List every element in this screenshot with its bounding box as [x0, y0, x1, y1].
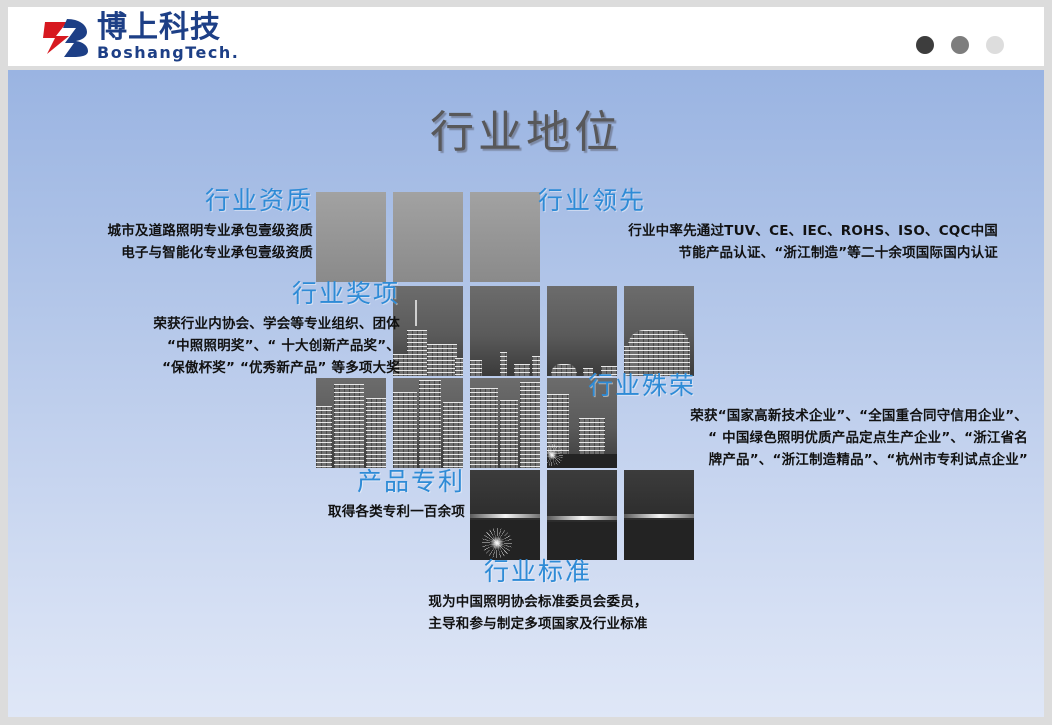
mosaic-tile: [624, 470, 694, 560]
mosaic-tile: [316, 378, 386, 468]
block-patents-body: 取得各类专利一百余项: [168, 501, 465, 523]
block-patents-heading: 产品专利: [168, 468, 465, 497]
block-awards-body: 荣获行业内协会、学会等专业组织、团体 “中照照明奖”、“ 十大创新产品奖”、 “…: [8, 313, 400, 380]
text-line: 主导和参与制定多项国家及行业标准: [338, 613, 738, 635]
presentation-slide: 博上科技 BoshangTech. 行业地位: [0, 0, 1052, 725]
mosaic-tile: [470, 378, 540, 468]
header-dots: [916, 36, 1004, 54]
boshang-logo-mark: [43, 16, 89, 58]
dot-light: [986, 36, 1004, 54]
text-line: 荣获“国家高新技术企业”、“全国重合同守信用企业”、: [588, 405, 1028, 427]
text-line: 牌产品”、“浙江制造精品”、“杭州市专利试点企业”: [588, 449, 1028, 471]
mosaic-tile: [470, 470, 540, 560]
mosaic-tile: [393, 192, 463, 282]
dot-medium: [951, 36, 969, 54]
block-qualification: 行业资质 城市及道路照明专业承包壹级资质 电子与智能化专业承包壹级资质: [28, 187, 313, 264]
text-line: “保傲杯奖” “优秀新产品” 等多项大奖: [8, 357, 400, 379]
block-honors-body: 荣获“国家高新技术企业”、“全国重合同守信用企业”、 “ 中国绿色照明优质产品定…: [588, 405, 1028, 472]
page-title: 行业地位: [8, 96, 1044, 160]
company-logo: 博上科技 BoshangTech.: [43, 14, 239, 60]
mosaic-tile: [547, 470, 617, 560]
block-awards-heading: 行业奖项: [8, 280, 400, 309]
block-awards: 行业奖项 荣获行业内协会、学会等专业组织、团体 “中照照明奖”、“ 十大创新产品…: [8, 280, 400, 380]
slide-header: 博上科技 BoshangTech.: [8, 7, 1044, 66]
block-honors-heading: 行业殊荣: [588, 372, 1028, 401]
mosaic-tile: [470, 286, 540, 376]
text-line: 节能产品认证、“浙江制造”等二十余项国际国内认证: [538, 242, 998, 264]
mosaic-tile: [393, 286, 463, 376]
text-line: “中照照明奖”、“ 十大创新产品奖”、: [8, 335, 400, 357]
text-line: 现为中国照明协会标准委员会委员，: [338, 591, 738, 613]
text-line: 荣获行业内协会、学会等专业组织、团体: [8, 313, 400, 335]
block-qualification-heading: 行业资质: [28, 187, 313, 216]
mosaic-tile: [316, 192, 386, 282]
logo-text-english: BoshangTech.: [97, 45, 239, 61]
block-patents: 产品专利 取得各类专利一百余项: [168, 468, 465, 523]
block-qualification-body: 城市及道路照明专业承包壹级资质 电子与智能化专业承包壹级资质: [28, 220, 313, 265]
text-line: 城市及道路照明专业承包壹级资质: [28, 220, 313, 242]
block-standards: 行业标准 现为中国照明协会标准委员会委员， 主导和参与制定多项国家及行业标准: [338, 558, 738, 635]
block-leading: 行业领先 行业中率先通过TUV、CE、IEC、ROHS、ISO、CQC中国 节能…: [538, 187, 998, 264]
slide-canvas: 行业地位: [8, 70, 1044, 717]
dot-dark: [916, 36, 934, 54]
logo-wordmark: 博上科技 BoshangTech.: [97, 13, 239, 61]
block-honors: 行业殊荣 荣获“国家高新技术企业”、“全国重合同守信用企业”、 “ 中国绿色照明…: [588, 372, 1028, 472]
block-standards-heading: 行业标准: [338, 558, 738, 587]
mosaic-tile: [393, 378, 463, 468]
logo-text-chinese: 博上科技: [97, 13, 239, 43]
text-line: “ 中国绿色照明优质产品定点生产企业”、“浙江省名: [588, 427, 1028, 449]
mosaic-tile: [470, 192, 540, 282]
block-leading-heading: 行业领先: [538, 187, 998, 216]
block-leading-body: 行业中率先通过TUV、CE、IEC、ROHS、ISO、CQC中国 节能产品认证、…: [538, 220, 998, 265]
block-standards-body: 现为中国照明协会标准委员会委员， 主导和参与制定多项国家及行业标准: [338, 591, 738, 636]
text-line: 电子与智能化专业承包壹级资质: [28, 242, 313, 264]
mosaic-tile: [547, 286, 617, 376]
text-line: 行业中率先通过TUV、CE、IEC、ROHS、ISO、CQC中国: [538, 220, 998, 242]
mosaic-tile: [624, 286, 694, 376]
text-line: 取得各类专利一百余项: [168, 501, 465, 523]
